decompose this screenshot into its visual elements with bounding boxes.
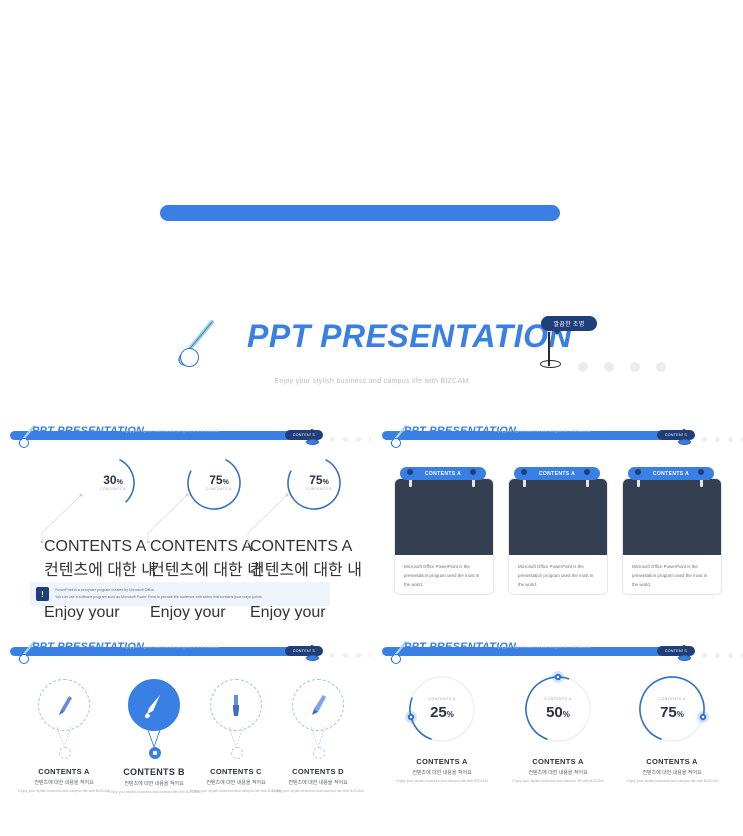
- item-en-text: Enjoy your stylish business and campus l…: [150, 604, 262, 620]
- item-title: CONTENTS C: [190, 767, 282, 776]
- hero-dot: [656, 362, 666, 372]
- item-title: CONTENTS D: [272, 767, 364, 776]
- gauge-item[interactable]: CONTENTS A 50% CONTENTS A 컨텐츠에 대한 내용을 적어…: [500, 671, 616, 785]
- item-en-text: Enjoy your stylish business and campus l…: [250, 604, 362, 620]
- slide-header-decor-text: Enjoy your stylish business and campus l…: [122, 645, 219, 649]
- item-en-text: Enjoy your stylish business and campus l…: [44, 604, 156, 620]
- slide-donut-stats[interactable]: PPT PRESENTATION Enjoy your stylish busi…: [0, 405, 371, 620]
- item-kr-text: 컨텐츠에 대한 내용을 적어요: [384, 769, 500, 776]
- paintbrush-icon: [211, 680, 261, 730]
- gauge-value: 25%: [404, 704, 480, 721]
- golf-hole-icon: [678, 655, 691, 661]
- pin-dot: [313, 747, 325, 759]
- binder-ring: [407, 469, 413, 475]
- note-line: You can use a software program such as M…: [55, 594, 262, 601]
- binder-ring: [635, 469, 641, 475]
- pin-circle: [210, 679, 262, 731]
- slide-dot-group: [330, 653, 371, 658]
- note-text: PowerPoint is a computer program created…: [55, 587, 262, 601]
- slide-dot: [702, 653, 707, 658]
- item-en-text: Enjoy your stylish business and campus l…: [272, 789, 364, 795]
- golf-hole-icon: [540, 360, 561, 368]
- pin-marker-item[interactable]: CONTENTS D 컨텐츠에 대한 내용을 적어요 Enjoy your st…: [272, 679, 364, 795]
- marker-icon: [293, 680, 343, 730]
- pin-circle: [128, 679, 180, 731]
- item-title: CONTENTS A: [250, 538, 362, 556]
- item-title: CONTENTS A: [500, 757, 616, 766]
- golf-hole-icon: [678, 439, 691, 445]
- golf-hole-icon: [306, 439, 319, 445]
- donut-chart: 75% CONTENTS A: [184, 453, 244, 513]
- slide-notebook-cards[interactable]: PPT PRESENTATION Enjoy your stylish busi…: [372, 405, 743, 620]
- slide-dot: [343, 437, 348, 442]
- binder-ring: [521, 469, 527, 475]
- gauge-value: 75%: [634, 704, 710, 721]
- card-image-placeholder: [395, 479, 493, 555]
- slide-circular-gauges[interactable]: PPT PRESENTATION Enjoy your stylish busi…: [372, 621, 743, 836]
- hero-bubble-badge[interactable]: 깔끔한 조명: [541, 316, 597, 331]
- item-en-text: Enjoy your stylish business and campus l…: [614, 779, 730, 785]
- item-kr-text: 컨텐츠에 대한 내용을 적어요: [108, 780, 200, 787]
- item-en-text: Enjoy your stylish business and campus l…: [384, 779, 500, 785]
- slide-dot: [356, 653, 361, 658]
- item-en-text: Enjoy your stylish business and campus l…: [108, 790, 200, 796]
- notebook-card[interactable]: Microsoft Office PowerPoint is the prese…: [508, 467, 606, 593]
- gauge-caption: CONTENTS A: [404, 697, 480, 701]
- note-line: PowerPoint is a computer program created…: [55, 587, 262, 594]
- gauge-chart: CONTENTS A 25%: [404, 671, 480, 747]
- item-kr-text: 컨텐츠에 대한 내용을 적어요: [272, 779, 364, 786]
- slide-header: PPT PRESENTATION Enjoy your stylish busi…: [372, 629, 743, 659]
- item-en-text: Enjoy your stylish business and campus l…: [18, 789, 110, 795]
- notebook-card[interactable]: Microsoft Office PowerPoint is the prese…: [394, 467, 492, 593]
- slide-dot-group: [702, 437, 743, 442]
- hero-dot: [604, 362, 614, 372]
- card-text: Microsoft Office PowerPoint is the prese…: [518, 563, 596, 589]
- item-title: CONTENTS A: [384, 757, 500, 766]
- item-en-text: Enjoy your stylish business and campus l…: [190, 789, 282, 795]
- item-title: CONTENTS B: [108, 767, 200, 777]
- card-image-placeholder: [509, 479, 607, 555]
- slide-header: PPT PRESENTATION Enjoy your stylish busi…: [372, 413, 743, 443]
- slide-dot: [728, 437, 733, 442]
- gauge-chart: CONTENTS A 75%: [634, 671, 710, 747]
- hero-dot: [630, 362, 640, 372]
- binder-ring: [584, 469, 590, 475]
- pin-dot: [59, 747, 71, 759]
- golf-ball-icon: [180, 348, 199, 367]
- slide-header-decor-text: Enjoy your stylish business and campus l…: [494, 645, 591, 649]
- golf-ball-icon: [391, 438, 401, 448]
- slide-grid: PPT PRESENTATION Enjoy your stylish busi…: [0, 405, 743, 836]
- hero-dot: [578, 362, 588, 372]
- hero-banner: PPT PRESENTATION Enjoy your stylish busi…: [0, 150, 743, 260]
- brush-icon: [129, 680, 179, 730]
- template-showcase-page: PPT PRESENTATION Enjoy your stylish busi…: [0, 0, 743, 836]
- pin-dot: [149, 747, 161, 759]
- donut-chart: 30% CONTENTS A: [78, 453, 138, 513]
- item-en-text: Enjoy your stylish business and campus l…: [500, 779, 616, 785]
- slide-dot: [343, 653, 348, 658]
- pin-circle: [292, 679, 344, 731]
- pin-circle: [38, 679, 90, 731]
- slide-dot-group: [702, 653, 743, 658]
- donut-caption: CONTENTS A: [53, 487, 173, 491]
- slide-dot: [330, 437, 335, 442]
- donut-value: 30%: [53, 473, 173, 487]
- slide-dot: [728, 653, 733, 658]
- slide-header-decor-text: Enjoy your stylish business and campus l…: [122, 429, 219, 433]
- slide-dot: [369, 653, 371, 658]
- donut-text-block: CONTENTS A 컨텐츠에 대한 내용을 적어요 Enjoy your st…: [44, 538, 156, 620]
- donut-value: 75%: [259, 473, 371, 487]
- card-image-placeholder: [623, 479, 721, 555]
- item-kr-text: 컨텐츠에 대한 내용을 적어요: [18, 779, 110, 786]
- slide-dot: [356, 437, 361, 442]
- binder-ring: [470, 469, 476, 475]
- gauge-caption: CONTENTS A: [520, 697, 596, 701]
- golf-ball-icon: [391, 654, 401, 664]
- slide-dot: [330, 653, 335, 658]
- hero-progress-bar: [160, 205, 560, 221]
- donut-caption: CONTENTS A: [259, 487, 371, 491]
- item-title: CONTENTS A: [44, 538, 156, 556]
- gauge-item[interactable]: CONTENTS A 25% CONTENTS A 컨텐츠에 대한 내용을 적어…: [384, 671, 500, 785]
- hero-dot-group: [578, 362, 666, 372]
- golf-hole-icon: [306, 655, 319, 661]
- exclamation-icon: !: [36, 587, 49, 601]
- notebook-card[interactable]: Microsoft Office PowerPoint is the prese…: [622, 467, 720, 593]
- item-kr-text: 컨텐츠에 대한 내용을 적어요: [190, 779, 282, 786]
- card-body: Microsoft Office PowerPoint is the prese…: [394, 478, 494, 595]
- card-body: Microsoft Office PowerPoint is the prese…: [508, 478, 608, 595]
- donut-text-block: CONTENTS A 컨텐츠에 대한 내용을 적어요 Enjoy your st…: [250, 538, 362, 620]
- item-title: CONTENTS A: [18, 767, 110, 776]
- gauge-item[interactable]: CONTENTS A 75% CONTENTS A 컨텐츠에 대한 내용을 적어…: [614, 671, 730, 785]
- pin-dot: [231, 747, 243, 759]
- item-title: CONTENTS A: [614, 757, 730, 766]
- hero-title: PPT PRESENTATION: [247, 318, 572, 355]
- donut-text-block: CONTENTS A 컨텐츠에 대한 내용을 적어요 Enjoy your st…: [150, 538, 262, 620]
- card-body: Microsoft Office PowerPoint is the prese…: [622, 478, 722, 595]
- slide-dot: [702, 437, 707, 442]
- item-kr-text: 컨텐츠에 대한 내용을 적어요: [614, 769, 730, 776]
- card-text: Microsoft Office PowerPoint is the prese…: [632, 563, 710, 589]
- gauge-caption: CONTENTS A: [634, 697, 710, 701]
- golf-ball-icon: [19, 654, 29, 664]
- binder-ring: [698, 469, 704, 475]
- slide-dot-group: [330, 437, 371, 442]
- slide-dot: [715, 437, 720, 442]
- hero-subtitle: Enjoy your stylish business and campus l…: [0, 378, 743, 385]
- slide-dot: [715, 653, 720, 658]
- pin-marker-item[interactable]: CONTENTS A 컨텐츠에 대한 내용을 적어요 Enjoy your st…: [18, 679, 110, 795]
- slide-pin-markers[interactable]: PPT PRESENTATION Enjoy your stylish busi…: [0, 621, 371, 836]
- note-box: ! PowerPoint is a computer program creat…: [30, 582, 330, 606]
- pin-marker-item[interactable]: CONTENTS C 컨텐츠에 대한 내용을 적어요 Enjoy your st…: [190, 679, 282, 795]
- golf-ball-icon: [19, 438, 29, 448]
- card-text: Microsoft Office PowerPoint is the prese…: [404, 563, 482, 589]
- donut-chart: 75% CONTENTS A: [284, 453, 344, 513]
- donut-stat-item[interactable]: 75% CONTENTS A: [284, 453, 371, 513]
- slide-header: PPT PRESENTATION Enjoy your stylish busi…: [0, 413, 371, 443]
- slide-dot: [369, 437, 371, 442]
- slide-header: PPT PRESENTATION Enjoy your stylish busi…: [0, 629, 371, 659]
- item-kr-text: 컨텐츠에 대한 내용을 적어요: [500, 769, 616, 776]
- pin-marker-item[interactable]: CONTENTS B 컨텐츠에 대한 내용을 적어요 Enjoy your st…: [108, 679, 200, 796]
- gauge-chart: CONTENTS A 50%: [520, 671, 596, 747]
- gauge-value: 50%: [520, 704, 596, 721]
- slide-header-decor-text: Enjoy your stylish business and campus l…: [494, 429, 591, 433]
- pen-icon: [39, 680, 89, 730]
